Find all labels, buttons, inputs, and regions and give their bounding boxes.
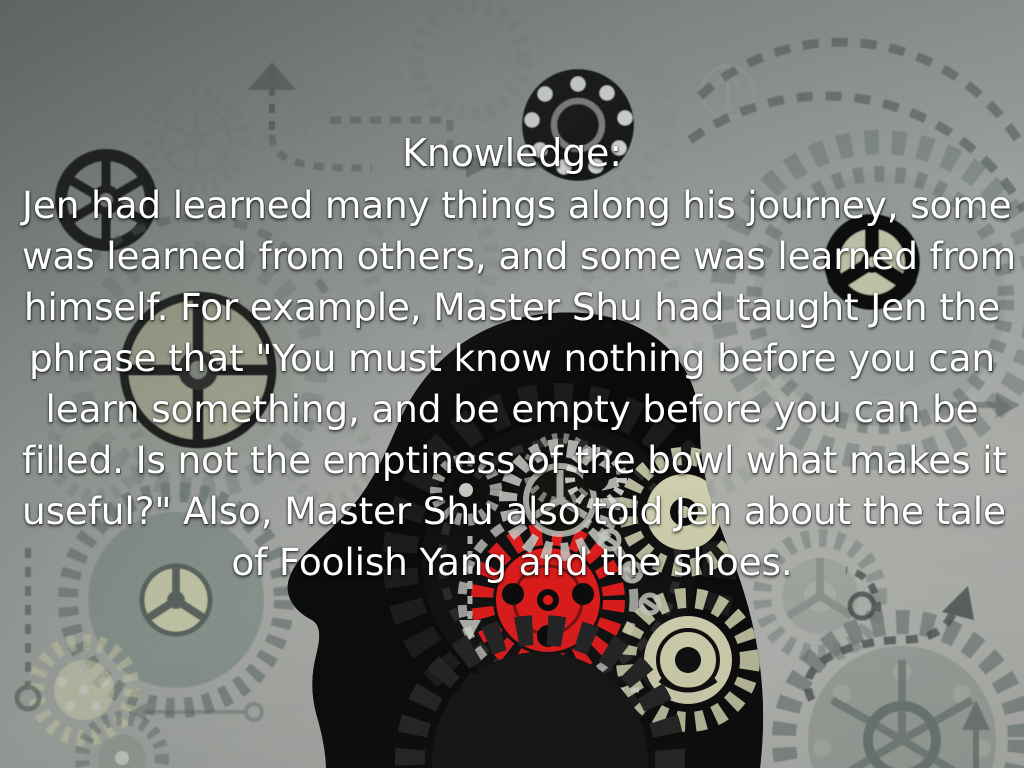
- background-vignette: [0, 0, 1024, 768]
- slide-canvas: Knowledge: Jen had learned many things a…: [0, 0, 1024, 768]
